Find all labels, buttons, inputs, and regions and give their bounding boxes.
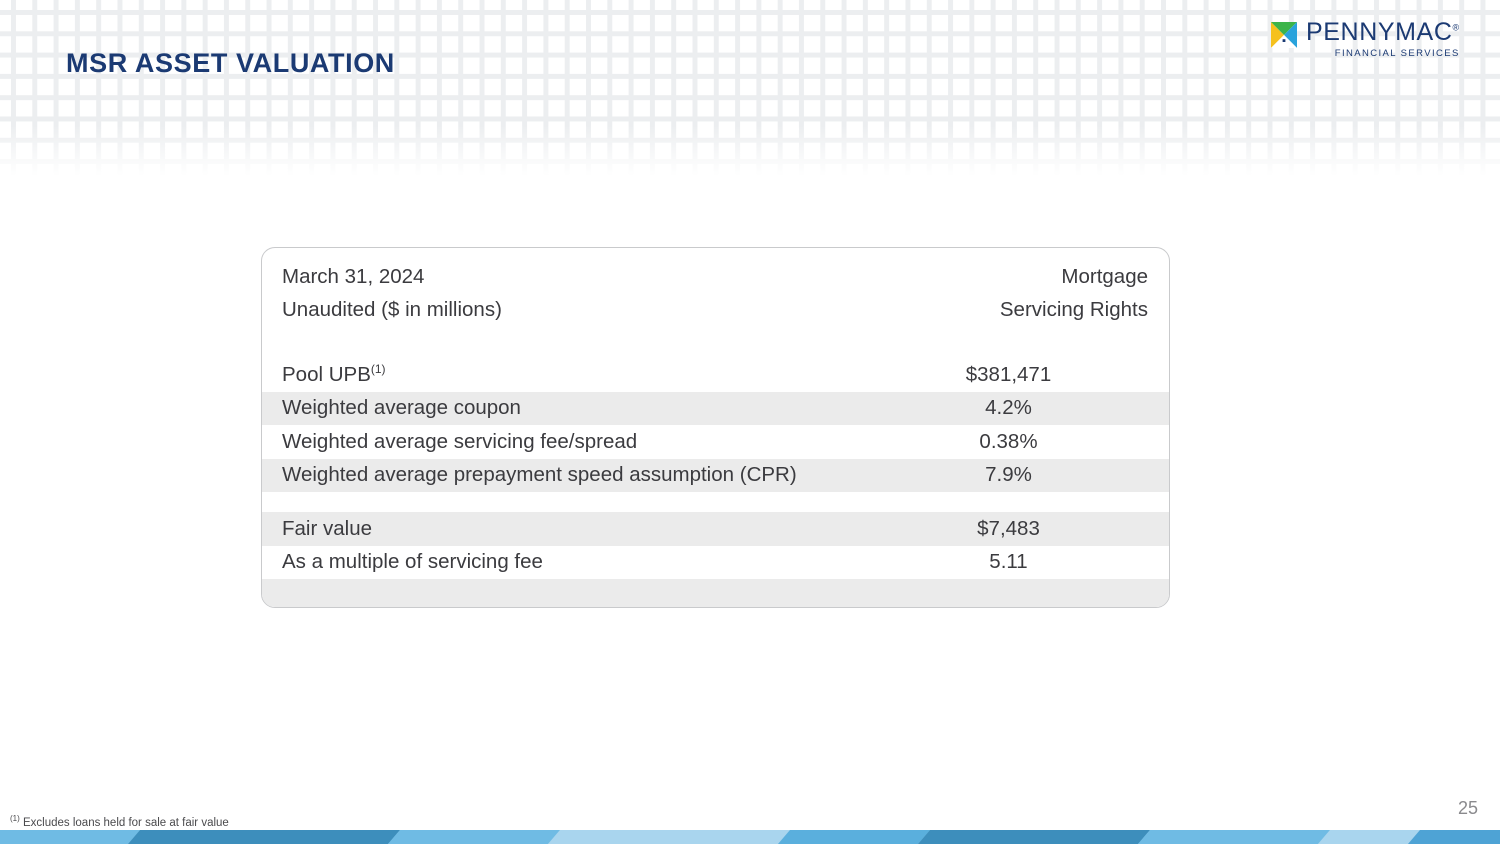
table-header-right: Mortgage Servicing Rights	[848, 260, 1169, 326]
table-row: Weighted average coupon4.2%	[262, 392, 1169, 426]
table-row: As a multiple of servicing fee5.11	[262, 546, 1169, 580]
table-row-label: Weighted average coupon	[262, 396, 869, 420]
table-row-value: 5.11	[869, 550, 1169, 574]
table-row-value: $381,471	[869, 363, 1169, 387]
footnote-text: Excludes loans held for sale at fair val…	[23, 817, 229, 829]
footnote-marker: (1)	[10, 814, 20, 823]
table-header-date: March 31, 2024	[282, 260, 848, 293]
table-row-footnote-marker: (1)	[371, 362, 386, 376]
table-row-value: 0.38%	[869, 430, 1169, 454]
table-row: Pool UPB(1)$381,471	[262, 358, 1169, 392]
table-header-left: March 31, 2024 Unaudited ($ in millions)	[262, 260, 848, 326]
pennymac-logo: PENNYMAC® FINANCIAL SERVICES	[1271, 20, 1460, 59]
bottom-bar-graphic	[0, 830, 1500, 844]
table-column-header-line1: Mortgage	[848, 260, 1148, 293]
table-header: March 31, 2024 Unaudited ($ in millions)…	[262, 248, 1169, 326]
registered-trademark-icon: ®	[1453, 23, 1460, 33]
table-header-units: Unaudited ($ in millions)	[282, 293, 848, 326]
table-body: Pool UPB(1)$381,471Weighted average coup…	[262, 358, 1169, 579]
table-row-label: Pool UPB(1)	[262, 362, 869, 387]
bottom-decorative-bar	[0, 830, 1500, 844]
table-row: Weighted average prepayment speed assump…	[262, 459, 1169, 493]
table-row-label-text: Pool UPB	[282, 363, 371, 386]
table-row-value: 4.2%	[869, 396, 1169, 420]
pennymac-logo-mark-icon	[1271, 22, 1297, 48]
table-footer-strip	[262, 579, 1169, 607]
table-header-spacer	[262, 326, 1169, 358]
table-column-header-line2: Servicing Rights	[848, 293, 1148, 326]
table-row: Weighted average servicing fee/spread0.3…	[262, 425, 1169, 459]
table-row-label: Weighted average servicing fee/spread	[262, 430, 869, 454]
table-row: Fair value$7,483	[262, 512, 1169, 546]
table-row-value: 7.9%	[869, 463, 1169, 487]
logo-text-block: PENNYMAC® FINANCIAL SERVICES	[1306, 20, 1460, 59]
msr-valuation-table: March 31, 2024 Unaudited ($ in millions)…	[261, 247, 1170, 608]
table-row-label: As a multiple of servicing fee	[262, 550, 869, 574]
table-row-value: $7,483	[869, 517, 1169, 541]
logo-wordmark: PENNYMAC®	[1306, 20, 1460, 45]
page-title: MSR ASSET VALUATION	[66, 48, 395, 79]
page-number: 25	[1458, 798, 1478, 819]
table-row	[262, 492, 1169, 512]
table-row-label: Weighted average prepayment speed assump…	[262, 463, 869, 487]
table-row-label: Fair value	[262, 517, 869, 541]
footnote: (1) Excludes loans held for sale at fair…	[10, 814, 229, 829]
logo-wordmark-text: PENNYMAC	[1306, 18, 1453, 46]
logo-tagline: FINANCIAL SERVICES	[1335, 48, 1460, 59]
